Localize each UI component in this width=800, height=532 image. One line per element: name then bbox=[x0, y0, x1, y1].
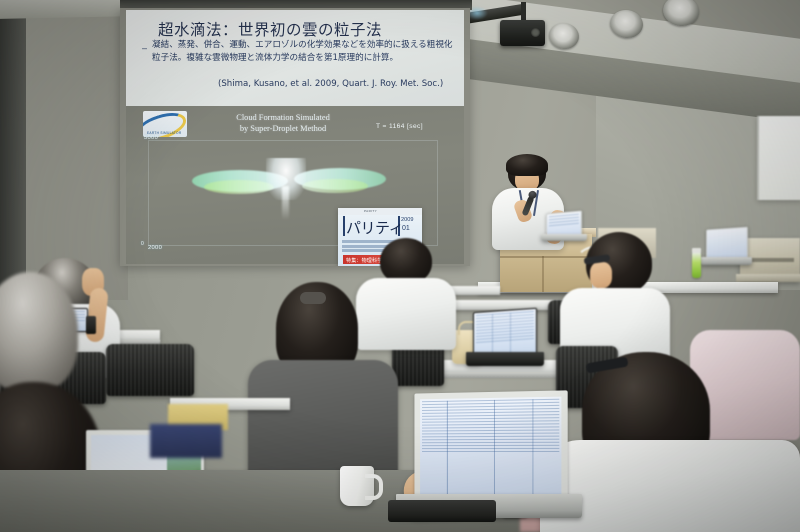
earth-simulator-logo-icon: EARTH SIMULATOR bbox=[143, 111, 187, 137]
cloud-right-arm-lower bbox=[302, 179, 368, 193]
lecture-room-photo: 超水滴法：世界初の雲の粒子法 – 凝結、蒸発、併合、運動、エアロゾルの化学効果な… bbox=[0, 0, 800, 532]
left-wall-shadow bbox=[0, 0, 26, 300]
printer-paper-slot bbox=[746, 258, 794, 262]
ceiling-projector bbox=[500, 20, 545, 46]
magazine-rule-left bbox=[343, 216, 345, 236]
podium-seam-vertical bbox=[542, 256, 544, 292]
audience-face-profile bbox=[590, 262, 612, 288]
bottle-cap bbox=[692, 248, 701, 253]
audience-torso bbox=[540, 440, 800, 532]
simulation-title-line1: Cloud Formation Simulated bbox=[236, 113, 330, 122]
magazine-issue: 01 bbox=[402, 225, 410, 232]
magazine-masthead: パリティ bbox=[346, 217, 403, 238]
slide-citation: (Shima, Kusano, et al. 2009, Quart. J. R… bbox=[218, 78, 458, 91]
magazine-top-label: PARITY bbox=[364, 209, 377, 213]
coffee-mug bbox=[340, 466, 374, 506]
slide-bullet-marker: – bbox=[142, 43, 147, 53]
axis-label-z-top: 5000 bbox=[144, 135, 158, 141]
mug-handle bbox=[365, 474, 383, 500]
laptop-base bbox=[86, 316, 96, 334]
simulation-title-line2: by Super-Droplet Method bbox=[240, 124, 326, 133]
laptop-base bbox=[466, 352, 544, 366]
drink-bottle bbox=[692, 252, 701, 278]
simulation-time-label: T = 1164 [sec] bbox=[376, 123, 423, 130]
whiteboard bbox=[757, 116, 800, 200]
blue-bag bbox=[150, 424, 222, 458]
axis-label-origin: 0 bbox=[141, 241, 144, 247]
hair-clip-icon bbox=[300, 292, 326, 304]
slide-area: 超水滴法：世界初の雲の粒子法 – 凝結、蒸発、併合、運動、エアロゾルの化学効果な… bbox=[126, 10, 464, 106]
magazine-top-strip: PARITY bbox=[338, 208, 422, 215]
laptop-base bbox=[541, 234, 587, 241]
laptop-base bbox=[700, 257, 752, 265]
projection-screen: 超水滴法：世界初の雲の粒子法 – 凝結、蒸発、併合、運動、エアロゾルの化学効果な… bbox=[120, 8, 470, 266]
slide-title: 超水滴法：世界初の雲の粒子法 bbox=[158, 18, 458, 40]
magazine-year: 2009 bbox=[401, 217, 413, 223]
axis-label-y-near: 2000 bbox=[148, 245, 162, 251]
cloud-left-arm-lower bbox=[204, 180, 274, 194]
chair bbox=[106, 344, 194, 396]
slide-body-text: 凝結、蒸発、併合、運動、エアロゾルの化学効果などを効率的に扱える粗視化粒子法。複… bbox=[152, 39, 458, 64]
laptop-keyboard bbox=[388, 500, 496, 522]
presenter-hair bbox=[506, 154, 548, 176]
audience-torso bbox=[356, 278, 456, 350]
printer-tray bbox=[736, 274, 800, 282]
simulation-title: Cloud Formation Simulated by Super-Dropl… bbox=[198, 112, 368, 134]
cloud-downdraft bbox=[282, 186, 289, 220]
